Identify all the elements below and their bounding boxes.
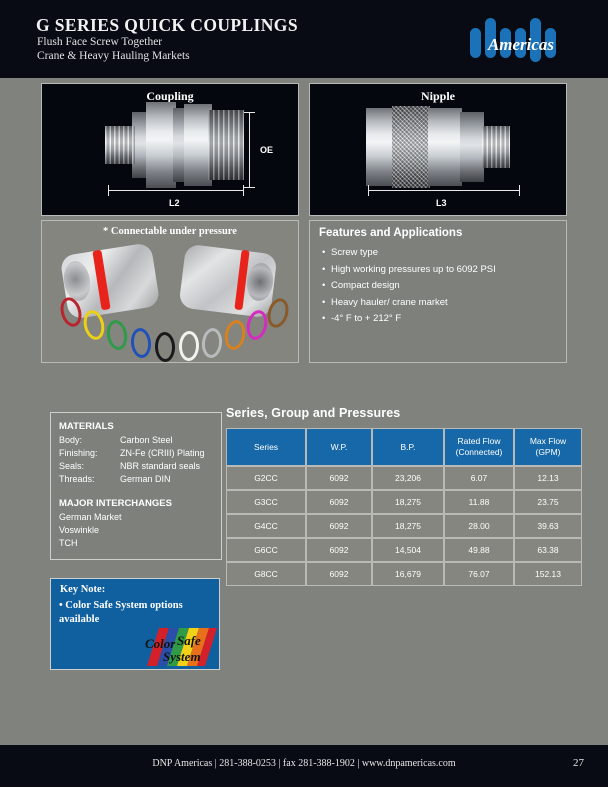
material-key: Body: — [59, 435, 120, 445]
series-table-section: Series, Group and Pressures Series W.P. … — [226, 406, 564, 586]
nipple-hex — [460, 112, 484, 182]
dnp-americas-logo: Americas — [466, 12, 576, 68]
css-logo-line-2: Safe — [177, 633, 201, 648]
nipple-body — [428, 108, 462, 186]
table-row: G8CC 6092 16,679 76.07 152.13 — [226, 562, 582, 586]
cell-bp: 18,275 — [372, 490, 444, 514]
cell-rated-flow: 49.88 — [444, 538, 514, 562]
nipple-title: Nipple — [310, 89, 566, 104]
cell-rated-flow: 11.88 — [444, 490, 514, 514]
coupling-photo-panel: Coupling OE L2 — [41, 83, 299, 216]
oe-dim-tick-bottom — [244, 187, 255, 188]
key-note-panel: Key Note: • Color Safe System options av… — [50, 578, 220, 670]
material-row: Seals:NBR standard seals — [59, 461, 200, 471]
feature-item: •High working pressures up to 6092 PSI — [322, 262, 560, 279]
cell-series: G2CC — [226, 466, 306, 490]
cell-series: G3CC — [226, 490, 306, 514]
color-ring-blue — [129, 327, 152, 359]
cell-bp: 18,275 — [372, 514, 444, 538]
logo-script-text: Americas — [487, 35, 554, 54]
nipple-thread-ridges — [482, 126, 510, 168]
l2-dim-tick-left — [108, 185, 109, 196]
connectable-under-pressure-panel: * Connectable under pressure — [41, 220, 299, 363]
cell-max-flow: 63.38 — [514, 538, 582, 562]
coupling-threads — [208, 110, 244, 180]
table-row: G2CC 6092 23,206 6.07 12.13 — [226, 466, 582, 490]
color-ring-orange — [223, 318, 248, 351]
cell-max-flow: 152.13 — [514, 562, 582, 586]
material-row: Threads:German DIN — [59, 474, 171, 484]
material-value: ZN-Fe (CRIII) Plating — [120, 448, 205, 458]
oe-dim-label: OE — [260, 145, 273, 155]
material-value: German DIN — [120, 474, 171, 484]
page-header: G SERIES QUICK COUPLINGS Flush Face Scre… — [0, 0, 608, 78]
color-ring-black — [154, 332, 175, 363]
material-key: Threads: — [59, 474, 120, 484]
color-ring-silver — [200, 327, 223, 359]
features-panel: Features and Applications •Screw type •H… — [309, 220, 567, 363]
cell-max-flow: 39.63 — [514, 514, 582, 538]
cell-wp: 6092 — [306, 538, 372, 562]
connectable-title: * Connectable under pressure — [42, 226, 298, 237]
cell-wp: 6092 — [306, 514, 372, 538]
cell-series: G6CC — [226, 538, 306, 562]
coupling-hex-nut — [146, 102, 176, 188]
oe-dim-tick-top — [244, 112, 255, 113]
table-row: G3CC 6092 18,275 11.88 23.75 — [226, 490, 582, 514]
l3-dim-line — [368, 190, 520, 191]
feature-label: Heavy hauler/ crane market — [331, 297, 448, 308]
features-list: •Screw type •High working pressures up t… — [322, 245, 560, 328]
column-header-series: Series — [226, 428, 306, 466]
feature-item: •Compact design — [322, 278, 560, 295]
interchanges-heading: MAJOR INTERCHANGES — [59, 498, 172, 509]
key-note-bullet: • Color Safe System options available — [59, 599, 217, 627]
datasheet-page: G SERIES QUICK COUPLINGS Flush Face Scre… — [0, 0, 608, 787]
page-subtitle-1: Flush Face Screw Together — [37, 36, 162, 48]
page-subtitle-2: Crane & Heavy Hauling Markets — [37, 50, 190, 62]
series-group-pressures-table: Series W.P. B.P. Rated Flow(Connected) M… — [226, 428, 582, 586]
color-safe-system-logo: Color Safe System — [137, 628, 217, 666]
feature-label: -4° F to + 212° F — [331, 313, 401, 324]
footer-page-number: 27 — [573, 757, 584, 769]
cell-bp: 16,679 — [372, 562, 444, 586]
cell-rated-flow: 28.00 — [444, 514, 514, 538]
l2-dim-tick-right — [243, 185, 244, 196]
cell-bp: 14,504 — [372, 538, 444, 562]
materials-heading: MATERIALS — [59, 421, 114, 432]
cell-series: G4CC — [226, 514, 306, 538]
page-title: G SERIES QUICK COUPLINGS — [36, 15, 298, 36]
l3-dim-tick-right — [519, 185, 520, 196]
material-row: Body:Carbon Steel — [59, 435, 173, 445]
column-header-rated-flow: Rated Flow(Connected) — [444, 428, 514, 466]
cell-wp: 6092 — [306, 490, 372, 514]
feature-item: •Screw type — [322, 245, 560, 262]
column-header-bp: B.P. — [372, 428, 444, 466]
cell-rated-flow: 6.07 — [444, 466, 514, 490]
l2-dim-line — [108, 190, 244, 191]
material-key: Finishing: — [59, 448, 120, 458]
cell-wp: 6092 — [306, 562, 372, 586]
css-logo-line-3: System — [163, 649, 201, 664]
nipple-knurl-texture — [392, 106, 430, 188]
material-row: Finishing:ZN-Fe (CRIII) Plating — [59, 448, 205, 458]
cell-rated-flow: 76.07 — [444, 562, 514, 586]
interchange-item: German Market — [59, 512, 122, 522]
cell-bp: 23,206 — [372, 466, 444, 490]
page-footer: DNP Americas | 281-388-0253 | fax 281-38… — [0, 745, 608, 787]
materials-panel: MATERIALS Body:Carbon Steel Finishing:ZN… — [50, 412, 222, 560]
material-value: Carbon Steel — [120, 435, 173, 445]
cell-wp: 6092 — [306, 466, 372, 490]
column-header-wp: W.P. — [306, 428, 372, 466]
table-row: G6CC 6092 14,504 49.88 63.38 — [226, 538, 582, 562]
table-header-row: Series W.P. B.P. Rated Flow(Connected) M… — [226, 428, 582, 466]
feature-label: Screw type — [331, 247, 378, 258]
nipple-photo-panel: Nipple L3 — [309, 83, 567, 216]
coupling-stem-threads — [105, 126, 135, 164]
nipple-sleeve — [366, 108, 394, 186]
l3-dim-label: L3 — [436, 198, 447, 208]
material-value: NBR standard seals — [120, 461, 200, 471]
cell-max-flow: 12.13 — [514, 466, 582, 490]
color-ring-green — [105, 318, 130, 351]
color-ring-white — [178, 331, 199, 362]
footer-contact-text: DNP Americas | 281-388-0253 | fax 281-38… — [0, 758, 608, 769]
cell-max-flow: 23.75 — [514, 490, 582, 514]
table-row: G4CC 6092 18,275 28.00 39.63 — [226, 514, 582, 538]
material-key: Seals: — [59, 461, 120, 471]
series-table-title: Series, Group and Pressures — [226, 406, 564, 420]
l3-dim-tick-left — [368, 185, 369, 196]
l2-dim-label: L2 — [169, 198, 180, 208]
column-header-max-flow: Max Flow(GPM) — [514, 428, 582, 466]
key-note-title: Key Note: — [60, 584, 105, 595]
feature-item: •-4° F to + 212° F — [322, 311, 560, 328]
cell-series: G8CC — [226, 562, 306, 586]
oe-dim-line — [249, 112, 250, 188]
interchange-item: Voswinkle — [59, 525, 99, 535]
interchange-item: TCH — [59, 538, 78, 548]
feature-label: High working pressures up to 6092 PSI — [331, 264, 496, 275]
feature-item: •Heavy hauler/ crane market — [322, 295, 560, 312]
feature-label: Compact design — [331, 280, 400, 291]
features-title: Features and Applications — [319, 227, 462, 239]
